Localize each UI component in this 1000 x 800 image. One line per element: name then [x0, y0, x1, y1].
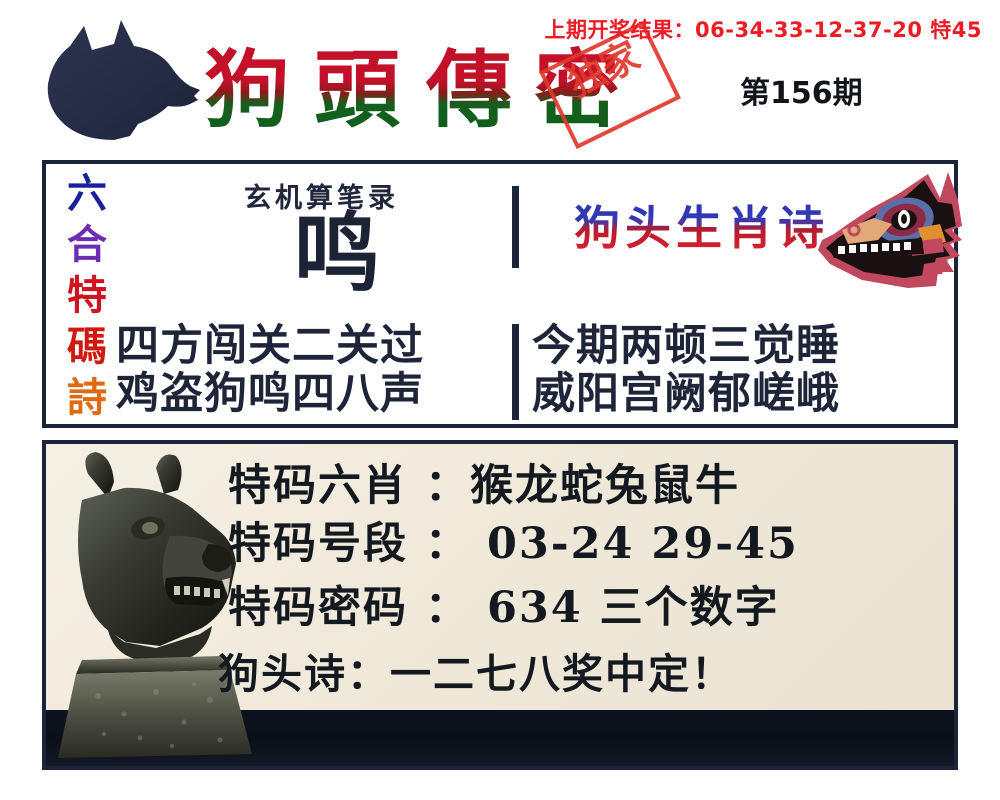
title-char-3: 傳 [426, 44, 512, 136]
column-divider-top [512, 186, 519, 268]
feature-character: 鸣 [294, 208, 380, 300]
prediction-lines: 特码六肖 ：猴龙蛇兔鼠牛 特码号段 ： 03-24 29-45 特码密码 ： 6… [228, 458, 958, 706]
poem-left: 四方闯关二关过 鸡盗狗鸣四八声 [116, 322, 424, 418]
last-draw-result: 上期开奖结果：06-34-33-12-37-20 特45 [545, 14, 982, 44]
stylized-wolf-head-icon [812, 168, 964, 296]
lottery-poster: 狗 頭 傳 密 独家 上期开奖结果：06-34-33-12-37-20 特45 … [0, 0, 1000, 800]
prediction-line-ranges: 特码号段 ： 03-24 29-45 [228, 514, 958, 574]
title-char-1: 狗 [204, 44, 290, 136]
poem-left-line-1: 四方闯关二关过 [116, 322, 424, 370]
poem-left-line-2: 鸡盗狗鸣四八声 [116, 370, 424, 418]
prediction-line-zodiacs: 特码六肖 ：猴龙蛇兔鼠牛 [228, 458, 958, 514]
poem-right-line-2: 威阳宫阙郁嵯峨 [532, 370, 840, 418]
dog-head-silhouette-icon [18, 4, 208, 154]
poster-header: 狗 頭 傳 密 独家 上期开奖结果：06-34-33-12-37-20 特45 … [0, 0, 1000, 152]
poem-right: 今期两顿三觉睡 威阳宫阙郁嵯峨 [532, 322, 840, 418]
zodiac-poem-title: 狗头生肖诗 [574, 192, 829, 258]
vertical-char-1: 六 [67, 172, 107, 216]
vertical-title: 六 合 特 碼 詩 [56, 170, 118, 426]
poem-right-line-1: 今期两顿三觉睡 [532, 322, 840, 370]
prediction-panel: 特码六肖 ：猴龙蛇兔鼠牛 特码号段 ： 03-24 29-45 特码密码 ： 6… [42, 440, 958, 770]
vertical-char-4: 碼 [67, 325, 107, 369]
prediction-line-poem: 狗头诗：一二七八奖中定！ [218, 642, 958, 706]
vertical-char-2: 合 [67, 223, 107, 267]
column-divider-bottom [512, 324, 519, 420]
vertical-char-3: 特 [67, 274, 107, 318]
issue-number: 第156期 [740, 68, 863, 112]
prediction-line-code: 特码密码 ： 634 三个数字 [228, 574, 958, 642]
vertical-char-5: 詩 [67, 376, 107, 420]
title-char-2: 頭 [314, 44, 400, 136]
